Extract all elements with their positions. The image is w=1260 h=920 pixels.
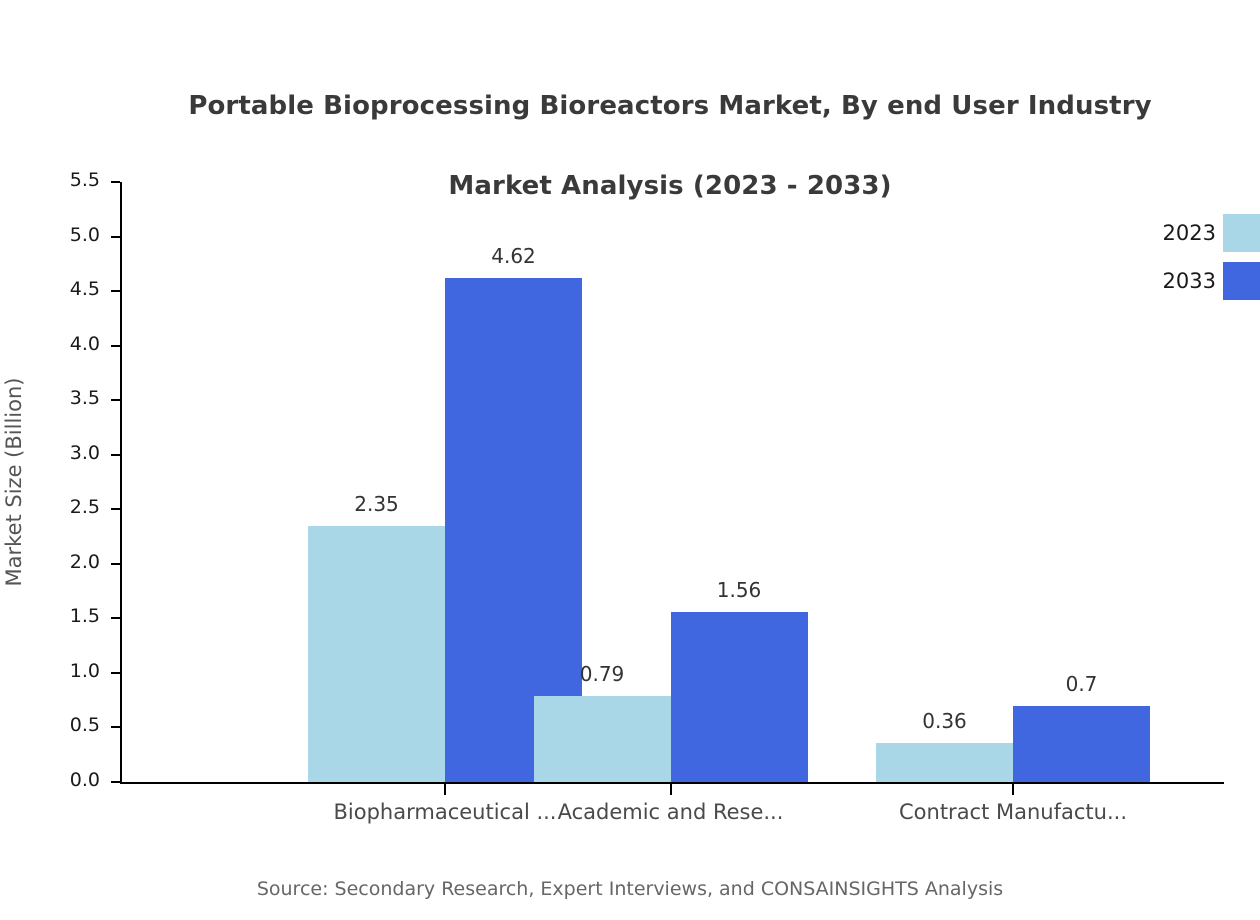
y-axis-tick xyxy=(111,781,120,783)
y-axis-tick-label: 4.5 xyxy=(40,278,100,300)
y-axis-tick-label: 1.5 xyxy=(40,605,100,627)
y-axis-tick-label: 4.0 xyxy=(40,333,100,355)
y-axis-tick xyxy=(111,290,120,292)
x-axis-category-label: Contract Manufactu... xyxy=(813,800,1213,824)
y-axis-tick xyxy=(111,726,120,728)
bar-value-label: 0.7 xyxy=(973,672,1190,696)
y-axis-tick xyxy=(111,508,120,510)
y-axis-tick xyxy=(111,617,120,619)
legend-item-2033[interactable]: 2033 xyxy=(1100,262,1260,300)
y-axis-tick-label: 5.5 xyxy=(40,169,100,191)
y-axis-tick xyxy=(111,345,120,347)
chart-figure: Portable Bioprocessing Bioreactors Marke… xyxy=(0,0,1260,920)
bar-value-label: 4.62 xyxy=(405,244,622,268)
bar-value-label: 1.56 xyxy=(631,578,848,602)
y-axis-tick-label: 0.5 xyxy=(40,714,100,736)
chart-title-line-1: Portable Bioprocessing Bioreactors Marke… xyxy=(130,86,1210,126)
bar-2023-2[interactable] xyxy=(534,696,671,782)
x-axis-line xyxy=(120,782,1224,784)
y-axis-tick xyxy=(111,454,120,456)
legend-item-2023[interactable]: 2023 xyxy=(1100,214,1260,252)
x-axis-tick xyxy=(1012,784,1014,795)
x-axis-tick xyxy=(444,784,446,795)
legend-label: 2033 xyxy=(1100,262,1216,300)
bar-2023-3[interactable] xyxy=(876,743,1013,782)
y-axis-line xyxy=(120,182,122,782)
y-axis-tick-label: 2.5 xyxy=(40,496,100,518)
legend-swatch xyxy=(1223,262,1260,300)
x-axis-tick xyxy=(670,784,672,795)
y-axis-tick xyxy=(111,672,120,674)
y-axis-tick-label: 2.0 xyxy=(40,551,100,573)
y-axis-tick xyxy=(111,563,120,565)
y-axis-tick-label: 1.0 xyxy=(40,660,100,682)
y-axis-tick-label: 0.0 xyxy=(40,769,100,791)
chart-legend: 20232033 xyxy=(1100,214,1260,304)
legend-label: 2023 xyxy=(1100,214,1216,252)
bar-2033-3[interactable] xyxy=(1013,706,1150,782)
y-axis-tick xyxy=(111,399,120,401)
y-axis-title: Market Size (Billion) xyxy=(2,378,26,587)
y-axis-tick-label: 3.0 xyxy=(40,442,100,464)
x-axis-category-label: Academic and Rese... xyxy=(471,800,871,824)
source-note: Source: Secondary Research, Expert Inter… xyxy=(0,878,1260,900)
legend-swatch xyxy=(1223,214,1260,252)
y-axis-tick xyxy=(111,181,120,183)
y-axis-tick-label: 3.5 xyxy=(40,387,100,409)
y-axis-tick xyxy=(111,236,120,238)
bar-2033-2[interactable] xyxy=(671,612,808,782)
y-axis-tick-label: 5.0 xyxy=(40,224,100,246)
plot-area: 0.00.51.01.52.02.53.03.54.04.55.05.5 Bio… xyxy=(120,182,1224,782)
bar-2023-1[interactable] xyxy=(308,526,445,782)
